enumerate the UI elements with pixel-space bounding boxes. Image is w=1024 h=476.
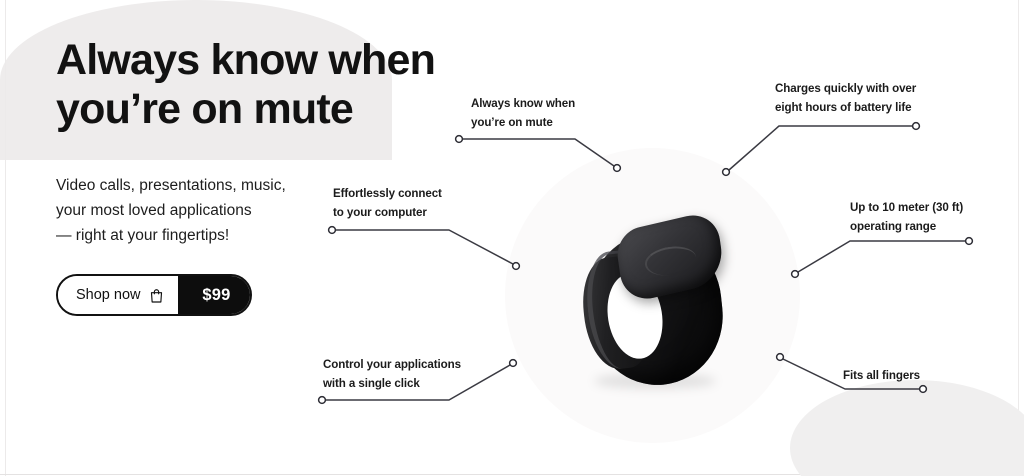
callout-endpoint-end-mute (614, 165, 621, 172)
callout-leader-line-battery (729, 126, 913, 170)
callout-endpoint-end-connect (513, 263, 520, 270)
callout-label-range: Up to 10 meter (30 ft) operating range (850, 199, 963, 237)
callout-endpoint-end-fingers (920, 386, 927, 393)
callout-endpoint-start-connect (329, 227, 336, 234)
promo-hero-stage: Always know when you’re on mute Video ca… (0, 0, 1024, 476)
callout-endpoint-end-battery (913, 123, 920, 130)
callout-battery-line-2: eight hours of battery life (775, 99, 916, 118)
callout-lines-layer (0, 0, 1024, 476)
callout-battery-line-1: Charges quickly with over (775, 80, 916, 99)
callout-label-control: Control your applications with a single … (323, 356, 461, 394)
callout-endpoint-start-range (792, 271, 799, 278)
callout-endpoint-start-control (319, 397, 326, 404)
callout-endpoint-end-control (510, 360, 517, 367)
callout-mute-line-1: Always know when (471, 95, 575, 114)
callout-leader-line-range (798, 241, 966, 272)
callout-connect-line-1: Effortlessly connect (333, 185, 442, 204)
callout-label-fingers: Fits all fingers (843, 367, 920, 386)
callout-endpoint-start-mute (456, 136, 463, 143)
callout-control-line-2: with a single click (323, 375, 461, 394)
callout-range-line-2: operating range (850, 218, 963, 237)
callout-connect-line-2: to your computer (333, 204, 442, 223)
callout-leader-line-connect (335, 230, 513, 264)
callout-endpoint-start-battery (723, 169, 730, 176)
callout-fingers-line-1: Fits all fingers (843, 367, 920, 386)
callout-label-connect: Effortlessly connect to your computer (333, 185, 442, 223)
callout-endpoint-start-fingers (777, 354, 784, 361)
callout-leader-line-mute (459, 139, 614, 166)
callout-label-battery: Charges quickly with over eight hours of… (775, 80, 916, 118)
callout-control-line-1: Control your applications (323, 356, 461, 375)
callout-label-mute: Always know when you’re on mute (471, 95, 575, 133)
callout-mute-line-2: you’re on mute (471, 114, 575, 133)
callout-range-line-1: Up to 10 meter (30 ft) (850, 199, 963, 218)
callout-endpoint-end-range (966, 238, 973, 245)
